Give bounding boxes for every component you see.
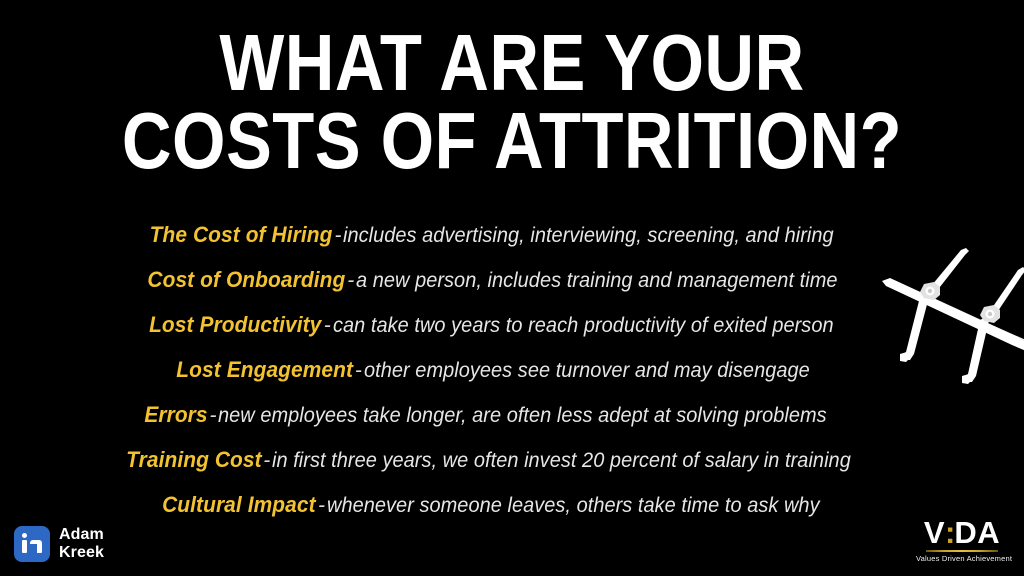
vida-wordmark: V:DA (916, 517, 1008, 548)
linkedin-credit[interactable]: Adam Kreek (14, 526, 104, 562)
linkedin-n-glyph (30, 540, 42, 553)
list-item: Lost Productivity-can take two years to … (0, 302, 1000, 347)
vida-gold-rule (926, 550, 998, 552)
list-item-description: can take two years to reach productivity… (333, 303, 834, 348)
list-item-separator: - (261, 449, 272, 472)
list-item-label: Training Cost (126, 437, 262, 482)
list-item-description: in first three years, we often invest 20… (272, 438, 851, 483)
linkedin-i-dot (22, 533, 27, 538)
credit-name-line-2: Kreek (59, 544, 104, 562)
list-item-separator: - (322, 314, 333, 337)
attrition-cost-list: The Cost of Hiring-includes advertising,… (0, 212, 1024, 527)
credit-name-line-1: Adam (59, 526, 104, 544)
linkedin-icon[interactable] (14, 526, 50, 562)
list-item-separator: - (316, 494, 327, 517)
list-item-label: Lost Engagement (176, 347, 353, 392)
list-item: Errors-new employees take longer, are of… (0, 392, 1000, 437)
list-item: Training Cost-in first three years, we o… (0, 437, 1000, 482)
linkedin-i-stem (22, 540, 27, 553)
list-item: Lost Engagement-other employees see turn… (0, 347, 1000, 392)
title-line-1: WHAT ARE YOUR (72, 24, 953, 102)
list-item-description: whenever someone leaves, others take tim… (327, 483, 820, 528)
list-item-label: Errors (144, 392, 207, 437)
list-item-label: Cost of Onboarding (147, 257, 345, 302)
list-item-label: The Cost of Hiring (150, 212, 333, 257)
list-item-separator: - (332, 224, 343, 247)
page-title: WHAT ARE YOUR COSTS OF ATTRITION? (0, 24, 1024, 179)
vida-logo: V:DA Values Driven Achievement (916, 517, 1008, 564)
vida-colon-mark: : (945, 515, 954, 550)
list-item: The Cost of Hiring-includes advertising,… (0, 212, 1000, 257)
list-item-label: Cultural Impact (162, 482, 316, 527)
slide-canvas: WHAT ARE YOUR COSTS OF ATTRITION? The Co… (0, 0, 1024, 576)
list-item-separator: - (345, 269, 356, 292)
list-item-description: a new person, includes training and mana… (356, 258, 838, 303)
list-item: Cost of Onboarding-a new person, include… (0, 257, 1000, 302)
list-item-separator: - (207, 404, 218, 427)
list-item: Cultural Impact-whenever someone leaves,… (0, 482, 1000, 527)
vida-letters-da: DA (954, 515, 1000, 550)
credit-name: Adam Kreek (59, 526, 104, 562)
vida-letter-v: V (924, 515, 945, 550)
list-item-description: new employees take longer, are often les… (218, 393, 827, 438)
vida-tagline: Values Driven Achievement (916, 554, 1008, 564)
list-item-description: includes advertising, interviewing, scre… (343, 213, 834, 258)
title-line-2: COSTS OF ATTRITION? (72, 102, 953, 180)
list-item-label: Lost Productivity (149, 302, 321, 347)
list-item-separator: - (353, 359, 364, 382)
list-item-description: other employees see turnover and may dis… (364, 348, 810, 393)
